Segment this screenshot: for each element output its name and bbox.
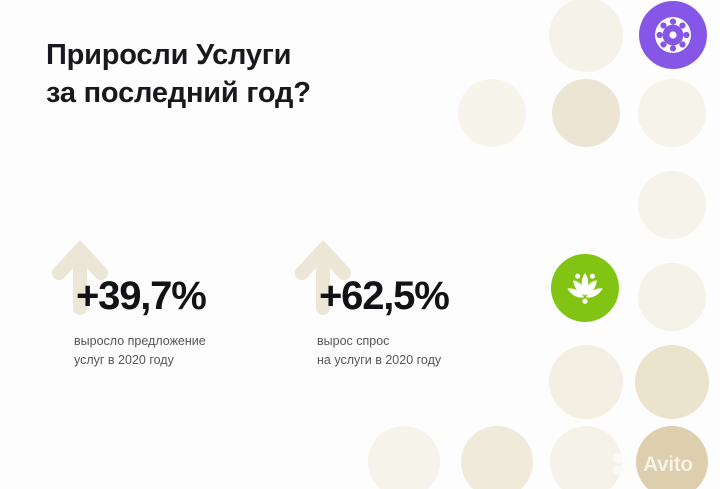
stat-value: +62,5% <box>319 238 449 316</box>
stat-value: +39,7% <box>76 238 206 316</box>
gear-badge <box>639 1 707 69</box>
lotus-icon <box>565 269 605 307</box>
stat-caption-line-2: услуг в 2020 году <box>74 351 206 370</box>
stat-caption: выросло предложение услуг в 2020 году <box>74 332 206 371</box>
avito-watermark: Avito <box>612 452 693 476</box>
stat-demand-growth: +62,5% вырос спрос на услуги в 2020 году <box>295 238 449 371</box>
stats-group: +39,7% выросло предложение услуг в 2020 … <box>0 0 720 489</box>
promo-card: Приросли Услуги за последний год? +39,7%… <box>0 0 720 489</box>
avito-paw-icon <box>612 452 638 476</box>
gear-icon <box>651 13 695 57</box>
stat-caption-line-1: выросло предложение <box>74 332 206 351</box>
lotus-badge <box>551 254 619 322</box>
avito-wordmark: Avito <box>643 454 693 475</box>
stat-caption: вырос спрос на услуги в 2020 году <box>317 332 449 371</box>
stat-caption-line-2: на услуги в 2020 году <box>317 351 449 370</box>
stat-caption-line-1: вырос спрос <box>317 332 449 351</box>
stat-supply-growth: +39,7% выросло предложение услуг в 2020 … <box>52 238 206 371</box>
